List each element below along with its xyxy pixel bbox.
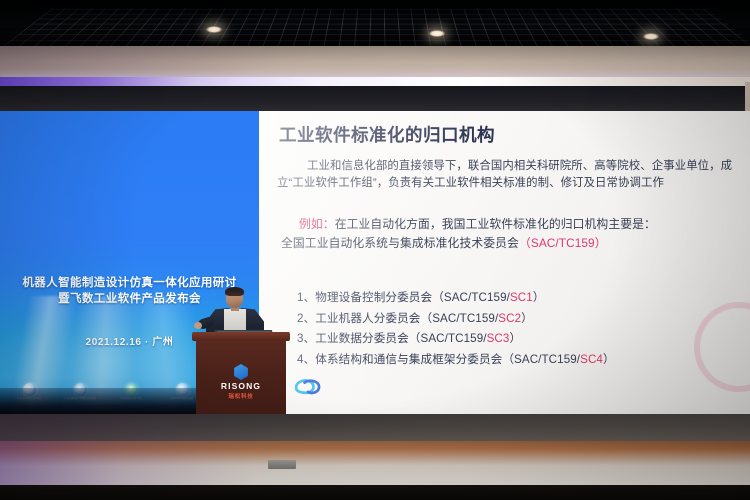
conference-hall-photo: 机器人智能制造设计仿真一体化应用研讨 暨飞数工业软件产品发布会 2021.12.… (0, 0, 750, 500)
downlight-icon (429, 30, 445, 37)
stage-front-face (0, 414, 750, 442)
projected-slide: 工业软件标准化的归口机构 工业和信息化部的直接领导下，联合国内相关科研院所、高等… (259, 111, 750, 414)
list-item-close: ） (521, 312, 533, 325)
list-item-code: SC3 (487, 332, 510, 345)
list-item-number: 2、 (297, 312, 315, 325)
podium-top-edge (192, 332, 290, 341)
list-item-close: ） (603, 353, 615, 366)
dark-wall-band (0, 86, 750, 112)
highlight-line2-text: 全国工业自动化系统与集成标准化技术委员会 (281, 236, 519, 250)
blue-swoosh-logo-icon (291, 374, 325, 398)
list-item-number: 3、 (297, 332, 315, 345)
floor-cable-plate (268, 460, 296, 469)
highlight-line-1: 例如：在工业自动化方面，我国工业软件标准化的归口机构主要是： (281, 215, 733, 234)
list-item-text: 体系结构和通信与集成框架分委员会（SAC/TC159/ (315, 353, 580, 366)
podium-brand-en: RISONG (196, 381, 286, 391)
ceiling-shading (0, 0, 750, 48)
list-item-close: ） (533, 291, 545, 304)
list-item-close: ） (509, 332, 521, 345)
list-item-number: 4、 (297, 353, 315, 366)
list-item-text: 物理设备控制分委员会（SAC/TC159/ (315, 291, 510, 304)
slide-paragraph: 工业和信息化部的直接领导下，联合国内相关科研院所、高等院校、企事业单位，成立“工… (277, 158, 735, 191)
list-item-code: SC2 (498, 312, 521, 325)
slide-highlight-block: 例如：在工业自动化方面，我国工业软件标准化的归口机构主要是： 全国工业自动化系统… (281, 215, 733, 253)
list-item: 4、体系结构和通信与集成框架分委员会（SAC/TC159/SC4） (297, 350, 727, 371)
highlight-line2-code: （SAC/TC159） (519, 236, 607, 250)
slide-title: 工业软件标准化的归口机构 (279, 122, 495, 147)
speaker-hair (225, 287, 244, 296)
highlight-label: 例如： (299, 217, 335, 231)
downlight-icon (643, 33, 659, 40)
list-item-code: SC1 (510, 291, 533, 304)
list-item-text: 工业机器人分委员会（SAC/TC159/ (315, 312, 498, 325)
podium-brand: RISONG 瑞松科技 (196, 364, 286, 400)
list-item: 1、物理设备控制分委员会（SAC/TC159/SC1） (297, 288, 727, 309)
speaker-hand (194, 322, 202, 329)
highlight-line1-text: 在工业自动化方面，我国工业软件标准化的归口机构主要是： (335, 217, 656, 231)
risong-hex-logo-icon (233, 364, 249, 380)
list-item-text: 工业数据分委员会（SAC/TC159/ (315, 332, 486, 345)
highlight-line-2: 全国工业自动化系统与集成标准化技术委员会（SAC/TC159） (281, 234, 733, 253)
list-item-code: SC4 (580, 353, 603, 366)
podium-brand-cn: 瑞松科技 (196, 391, 286, 400)
list-item: 2、工业机器人分委员会（SAC/TC159/SC2） (297, 309, 727, 330)
ceiling (0, 0, 750, 48)
downlight-icon (206, 26, 222, 33)
foreground-shadow (0, 485, 750, 500)
slide-list: 1、物理设备控制分委员会（SAC/TC159/SC1） 2、工业机器人分委员会（… (297, 288, 727, 370)
list-item-number: 1、 (297, 291, 315, 304)
list-item: 3、工业数据分委员会（SAC/TC159/SC3） (297, 329, 727, 350)
stage-floor (0, 441, 750, 486)
